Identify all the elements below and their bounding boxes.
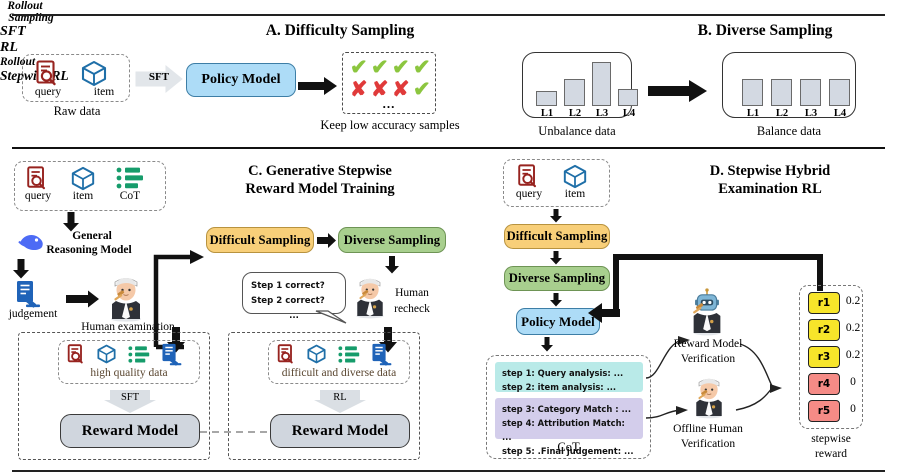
panel-a-policy-model[interactable]: Policy Model (186, 63, 296, 97)
item-label: item (549, 188, 601, 200)
human-recheck-icon (350, 272, 390, 320)
item-icon (562, 164, 588, 189)
arrow-down-to-difficult (549, 209, 563, 223)
keep-low-accuracy-caption: Keep low accuracy samples (320, 118, 460, 133)
query-label: query (22, 86, 74, 98)
panel-a-title: A. Difficulty Sampling (200, 22, 480, 40)
reward-value-r5: 0 (840, 403, 866, 415)
item-label: item (57, 190, 109, 202)
reward-chip-r3: r3 (808, 346, 840, 368)
human-examiner-icon (104, 272, 148, 322)
judgement-icon (370, 343, 393, 366)
check-icon: ✔ (350, 57, 368, 78)
query-icon (66, 344, 86, 364)
item-icon (80, 60, 108, 87)
bar-label-L3: L3 (592, 108, 612, 119)
reward-value-r2: 0.2 (840, 322, 866, 334)
check-icon: ✔ (392, 57, 410, 78)
bar-label-L2: L2 (565, 108, 585, 119)
raw-data-caption: Raw data (34, 104, 120, 119)
panel-d-policy-model[interactable]: Policy Model (516, 308, 600, 335)
arrow-down-to-diverse (549, 251, 563, 265)
reward-model-verification-line2: Verification (653, 353, 763, 365)
cot-step-2: step 2: item analysis: ... (502, 381, 636, 395)
reward-chip-r2: r2 (808, 319, 840, 341)
cot-block-analysis: step 1: Query analysis: ... step 2: item… (495, 362, 643, 392)
panel-d-difficult-sampling[interactable]: Difficult Sampling (504, 224, 610, 249)
check-icon: ✔ (371, 57, 389, 78)
reward-chip-r4: r4 (808, 373, 840, 395)
reward-chip-r1: r1 (808, 292, 840, 314)
judgement-label: judgement (2, 308, 64, 320)
bar-balanced-L4 (829, 79, 850, 106)
query-icon (516, 164, 540, 188)
general-reasoning-model-line1: General (44, 230, 140, 242)
bar-L3 (592, 62, 611, 106)
reward-chip-r5: r5 (808, 400, 840, 422)
arrow-difficult-to-diverse (317, 233, 337, 248)
item-label: item (78, 86, 130, 98)
divider-bottom (12, 470, 885, 472)
rollout-label-a: Rollout (0, 0, 50, 12)
cot-icon (116, 166, 144, 190)
cot-step-3: step 3: Category Match : ... (502, 403, 636, 417)
cot-icon (338, 345, 360, 364)
rl-reward-model[interactable]: Reward Model (270, 414, 410, 448)
panel-c-difficult-sampling[interactable]: Difficult Sampling (206, 227, 314, 253)
speech-tail (316, 311, 350, 325)
cot-icon (128, 345, 150, 364)
offline-human-verification-line1: Offline Human (653, 423, 763, 435)
arrow-down-to-policy (549, 293, 563, 307)
query-icon (276, 344, 296, 364)
panel-d-title-line1: D. Stepwise Hybrid (655, 163, 885, 180)
bar-L4 (618, 89, 638, 106)
stepwise-reward-caption-line2: reward (799, 448, 863, 460)
bar-label-L4: L4 (619, 108, 639, 119)
divider-top (12, 14, 885, 16)
bar-label-L1: L1 (537, 108, 557, 119)
figure-root: A. Difficulty Sampling query item Raw da… (0, 0, 897, 475)
balance-data-caption: Balance data (731, 124, 847, 139)
bar-balanced-L2 (771, 79, 792, 106)
item-icon (306, 344, 327, 364)
judgement-icon (160, 343, 183, 366)
check-icon: ✔ (413, 57, 431, 78)
panel-c-title-line1: C. Generative Stepwise (200, 163, 440, 180)
results-ellipsis: ... (342, 96, 436, 112)
reward-value-r1: 0.2 (840, 295, 866, 307)
reward-model-verification-line1: Reward Model (653, 338, 763, 350)
cot-label: CoT (104, 190, 156, 202)
query-label: query (503, 188, 555, 200)
bar-balanced-label-L1: L1 (743, 108, 763, 119)
unbalance-data-caption: Unbalance data (515, 124, 639, 139)
cot-block-match: step 3: Category Match : ... step 4: Att… (495, 398, 643, 439)
divider-middle (12, 147, 885, 149)
speech-line-1: Step 1 correct? (251, 279, 337, 294)
general-reasoning-model-line2: Reasoning Model (24, 244, 154, 256)
panel-d-diverse-sampling[interactable]: Diverse Sampling (504, 266, 610, 291)
human-recheck-line2: recheck (386, 303, 438, 315)
stepwise-reward-caption-line1: stepwise (799, 433, 863, 445)
arrow-to-human-examination (66, 290, 100, 308)
query-icon (25, 166, 49, 190)
arrow-down-rollout (540, 337, 554, 352)
panel-d-title-line2: Examination RL (655, 181, 885, 198)
sft-arrow-label: SFT (139, 71, 179, 83)
offline-human-verification-line2: Verification (653, 438, 763, 450)
reward-model-robot-icon (686, 288, 728, 336)
arrow-down-to-judgement (12, 259, 30, 279)
rl-arrow-label-2: RL (312, 392, 368, 403)
bar-balanced-L3 (800, 79, 821, 106)
speech-line-2: Step 2 correct? (251, 294, 337, 309)
query-icon (34, 60, 60, 86)
rl-data-caption: difficult and diverse data (263, 367, 415, 379)
reward-value-r3: 0.2 (840, 349, 866, 361)
bar-L1 (536, 91, 557, 106)
panel-b-title: B. Diverse Sampling (640, 22, 890, 40)
item-icon (96, 344, 117, 364)
arrow-down-to-reasoning-model (62, 212, 80, 232)
judgement-icon (14, 280, 42, 308)
sampling-arrow (648, 79, 708, 103)
bar-balanced-label-L2: L2 (772, 108, 792, 119)
arrow-to-results (298, 76, 338, 96)
cot-caption: CoT (486, 440, 651, 455)
panel-c-title-line2: Reward Model Training (200, 181, 440, 198)
bar-balanced-label-L4: L4 (830, 108, 850, 119)
sft-reward-model[interactable]: Reward Model (60, 414, 200, 448)
bar-balanced-L1 (742, 79, 763, 106)
panel-c-diverse-sampling[interactable]: Diverse Sampling (338, 227, 446, 253)
sft-arrow-label-2: SFT (102, 392, 158, 403)
item-icon (70, 166, 96, 191)
offline-human-icon (689, 372, 729, 420)
sft-data-caption: high quality data (58, 367, 200, 379)
reward-value-r4: 0 (840, 376, 866, 388)
bar-balanced-label-L3: L3 (801, 108, 821, 119)
cot-step-1: step 1: Query analysis: ... (502, 367, 636, 381)
recheck-speech-bubble: Step 1 correct? Step 2 correct? ... (242, 272, 346, 314)
bar-L2 (564, 79, 585, 106)
human-recheck-line1: Human (386, 287, 438, 299)
